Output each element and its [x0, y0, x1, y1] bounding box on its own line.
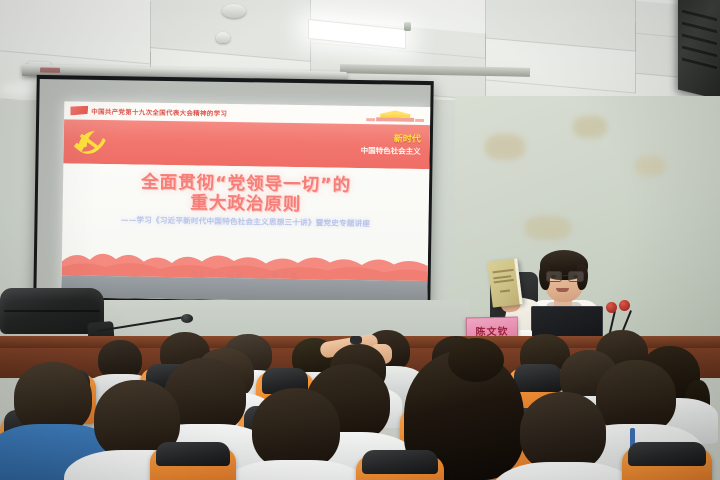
speaker-mouth — [556, 288, 569, 292]
hammer-sickle-emblem-icon — [74, 125, 110, 158]
slide-main-title: 全面贯彻“党领导一切”的 重大政治原则 — [63, 171, 430, 217]
slide-era-subtitle: 中国特色社会主义 — [361, 145, 421, 157]
held-book — [487, 258, 522, 307]
slide-header-text: 中国共产党第十九次全国代表大会精神的学习 — [91, 106, 227, 118]
presenter-name: 陈文钦 — [272, 271, 300, 280]
roller-brand-badge — [40, 67, 60, 72]
speaker-glasses-icon — [546, 271, 582, 280]
presentation-slide: 中国共产党第十九次全国代表大会精神的学习 — [61, 101, 430, 303]
smoke-detector-icon — [222, 4, 246, 18]
air-conditioner-vent-icon — [678, 0, 720, 100]
presenter-org: 茂名市社科联 — [190, 269, 245, 279]
tiananmen-gate-icon — [366, 109, 424, 123]
slide-red-band: 新时代 中国特色社会主义 — [63, 119, 430, 169]
auditorium-seat-top — [628, 442, 706, 466]
projection-screen: 中国共产党第十九次全国代表大会精神的学习 — [33, 75, 434, 307]
slide-era-title: 新时代 — [394, 132, 421, 145]
ceiling-tile — [485, 9, 636, 93]
slide-body: 全面贯彻“党领导一切”的 重大政治原则 ——学习《习近平新时代中国特色社会主义思… — [61, 163, 429, 303]
auditorium-seat-top — [156, 442, 230, 466]
auditorium-seat-top — [514, 364, 562, 392]
microphone-head-icon — [181, 314, 193, 323]
microphone-head-icon — [619, 300, 630, 311]
auditorium-seat-top — [362, 450, 438, 474]
audience-area — [0, 330, 720, 480]
lecture-hall-photo: 中国共产党第十九次全国代表大会精神的学习 — [0, 0, 720, 480]
smoke-detector-icon — [216, 32, 230, 43]
sprinkler-icon — [404, 22, 411, 31]
party-flag-icon — [70, 105, 88, 115]
